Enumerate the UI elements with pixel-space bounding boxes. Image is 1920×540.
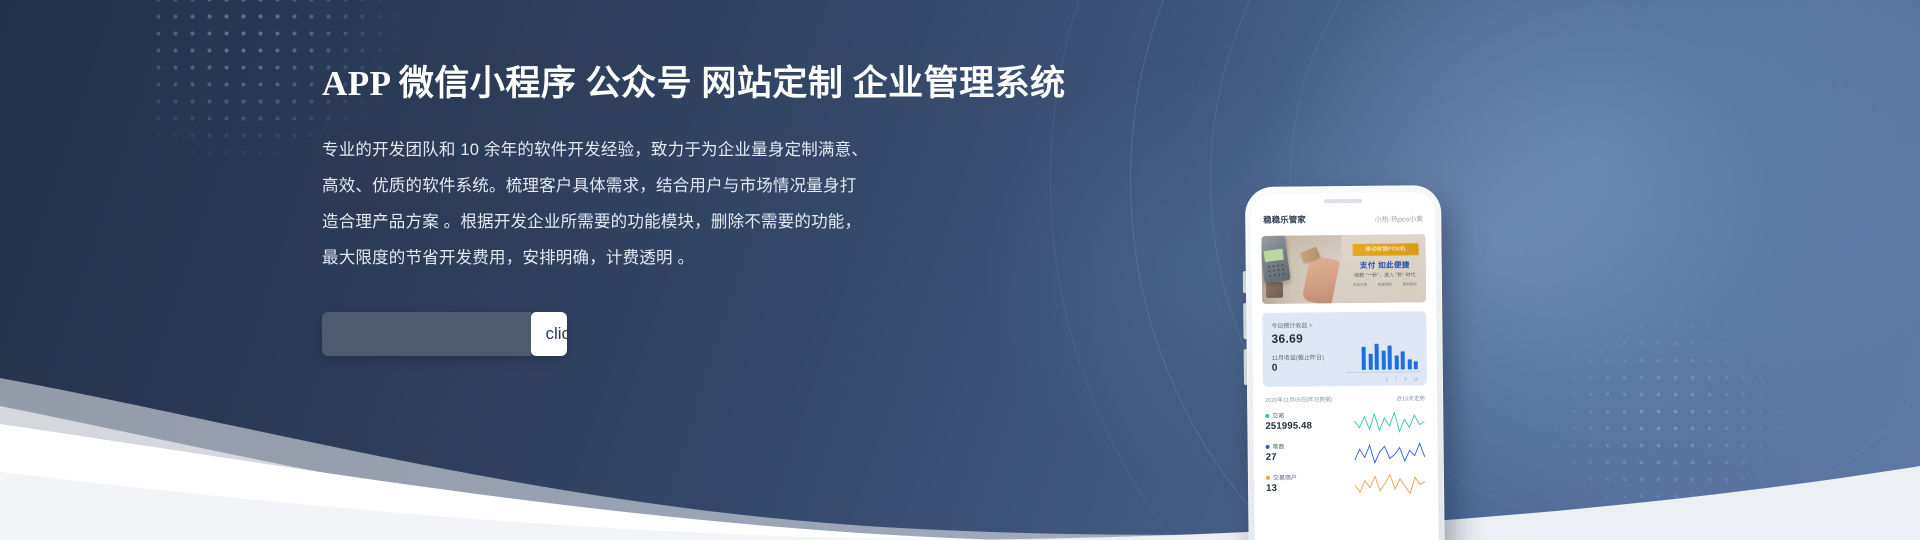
pos-terminal-screen [1264, 249, 1284, 262]
today-earnings-label: 今日预计收益 > [1271, 319, 1417, 330]
trend-header: 2020年11月05日(昨日数据) 近15天走势 [1265, 394, 1425, 404]
trend-sparkline [1354, 440, 1426, 465]
promo-headline: 支付 如此便捷 [1355, 259, 1415, 271]
trend-rows: 交易251995.48笔数27交易商户13 [1253, 409, 1438, 497]
trend-color-dot [1266, 444, 1270, 448]
promo-banner[interactable]: 移动收银POS机 支付 如此便捷 收款 "一秒"，进入 "秒" 时代 安全可靠 … [1261, 234, 1426, 304]
app-title: 稳稳乐管家 [1263, 213, 1306, 225]
earnings-tick-2: 9 [1404, 376, 1406, 381]
phone-body: 稳稳乐管家 小热-热pos小黄 移动收银POS机 支付 [1245, 185, 1445, 540]
earnings-bar-0 [1362, 347, 1366, 370]
click-button[interactable]: click [531, 312, 567, 356]
phone-screen: 稳稳乐管家 小热-热pos小黄 移动收银POS机 支付 [1251, 192, 1439, 540]
earnings-tick-0: 5 [1386, 377, 1388, 382]
promo-features: 安全可靠 极速到账 费率超低 [1353, 282, 1417, 288]
promo-feature-2: 费率超低 [1403, 282, 1417, 287]
earnings-tick-3: 11 [1414, 376, 1418, 381]
trend-sparkline [1353, 409, 1425, 434]
trend-color-dot [1265, 413, 1269, 417]
trend-sparkline [1354, 471, 1426, 496]
page-title: APP 微信小程序 公众号 网站定制 企业管理系统 [322, 62, 982, 106]
description-line-4: 最大限度的节省开发费用，安排明确，计费透明 。 [322, 240, 942, 276]
trend-range-label: 近15天走势 [1396, 394, 1425, 402]
earnings-bar-4 [1388, 346, 1392, 370]
earnings-bar-2 [1375, 344, 1379, 370]
hero-banner: APP 微信小程序 公众号 网站定制 企业管理系统 专业的开发团队和 10 余年… [0, 0, 1920, 540]
trend-row[interactable]: 交易251995.48 [1265, 409, 1425, 435]
trend-row[interactable]: 交易商户13 [1266, 471, 1426, 497]
promo-object-box [1266, 282, 1283, 298]
description-line-3: 造合理产品方案 。根据开发企业所需要的功能模块，删除不需要的功能， [322, 204, 942, 240]
earnings-bar-ticks: 57911 [1386, 376, 1418, 381]
trend-color-dot [1266, 475, 1270, 479]
earnings-bar-8 [1414, 361, 1418, 369]
earnings-bar-6 [1401, 351, 1405, 369]
earnings-bar-7 [1407, 359, 1411, 369]
promo-tag: 移动收银POS机 [1353, 243, 1419, 256]
earnings-bar-3 [1381, 350, 1385, 369]
hero-content: APP 微信小程序 公众号 网站定制 企业管理系统 专业的开发团队和 10 余年… [322, 62, 982, 356]
promo-feature-0: 安全可靠 [1353, 283, 1367, 288]
action-bar: click [322, 312, 567, 356]
trend-row-value: 13 [1266, 483, 1297, 494]
promo-feature-1: 极速到账 [1378, 283, 1392, 288]
trend-row-value: 251995.48 [1265, 420, 1312, 431]
trend-date-label: 2020年11月05日(昨日数据) [1265, 395, 1332, 404]
trend-row-name: 交易商户 [1266, 473, 1297, 482]
minibar-axis [1346, 371, 1420, 373]
phone-speaker-notch [1324, 199, 1362, 203]
promo-subtitle: 收款 "一秒"，进入 "秒" 时代 [1353, 271, 1417, 279]
trend-row-name: 笔数 [1266, 442, 1285, 451]
earnings-tick-1: 7 [1395, 376, 1397, 381]
trend-row-name: 交易 [1265, 410, 1312, 419]
app-user-label: 小热-热pos小黄 [1375, 214, 1424, 225]
pos-terminal-keypad [1266, 263, 1286, 279]
earnings-bar-1 [1368, 354, 1372, 370]
description-line-2: 高效、优质的软件系统。梳理客户具体需求，结合用户与市场情况量身打 [322, 168, 942, 204]
trend-row[interactable]: 笔数27 [1266, 440, 1426, 466]
trend-row-value: 27 [1266, 452, 1285, 463]
phone-mockup: 稳稳乐管家 小热-热pos小黄 移动收银POS机 支付 [1245, 185, 1454, 540]
description-line-1: 专业的开发团队和 10 余年的软件开发经验，致力于为企业量身定制满意、 [322, 132, 942, 168]
earnings-bar-5 [1394, 356, 1398, 370]
earnings-bar-chart [1362, 343, 1418, 370]
earnings-card[interactable]: 今日预计收益 > 36.69 11月收益(截止昨日) 0 57911 [1262, 311, 1427, 387]
search-input[interactable] [322, 312, 531, 356]
hero-description: 专业的开发团队和 10 余年的软件开发经验，致力于为企业量身定制满意、 高效、优… [322, 132, 942, 276]
